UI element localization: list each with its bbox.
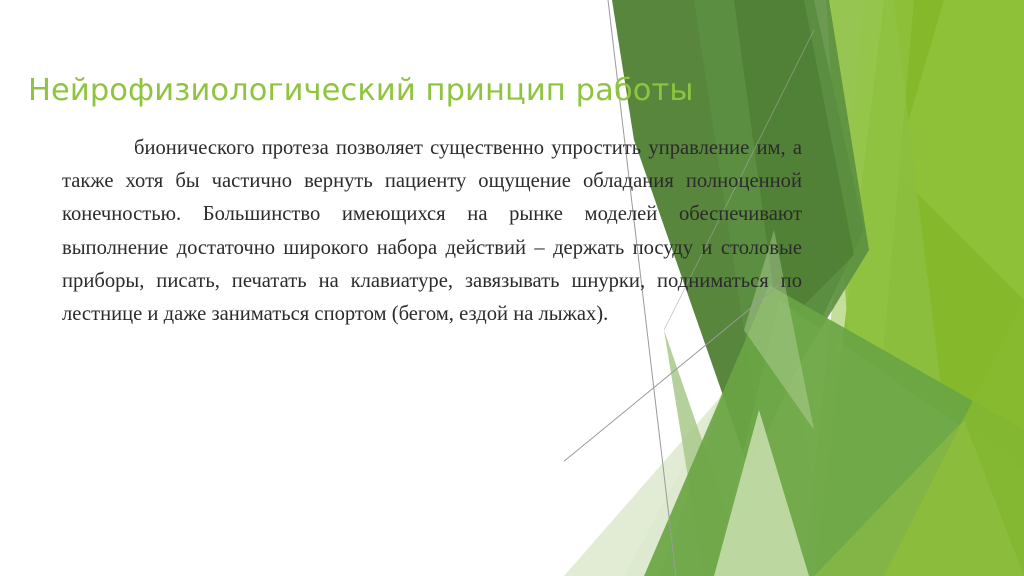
deco-shape-lime-band xyxy=(826,0,964,576)
presentation-slide: Нейрофизиологический принцип работы бион… xyxy=(0,0,1024,576)
deco-shape-lime-bottom-sliver xyxy=(814,420,1024,576)
deco-shape-green-sweep-light xyxy=(714,300,1024,576)
deco-shape-pale-lower xyxy=(564,330,779,576)
deco-shape-lime-upper-right xyxy=(894,0,1024,300)
slide-body-block: бионического протеза позволяет существен… xyxy=(62,132,802,331)
deco-shape-bright-lime-right xyxy=(814,0,1024,576)
deco-shape-lime-band-two xyxy=(804,0,914,576)
deco-shape-pale-highlight xyxy=(714,410,809,576)
slide-title: Нейрофизиологический принцип работы xyxy=(28,73,768,108)
slide-body-paragraph: бионического протеза позволяет существен… xyxy=(62,132,802,331)
deco-shape-lime-bottom-right xyxy=(884,300,1024,576)
deco-shape-sage-sliver xyxy=(664,330,749,576)
